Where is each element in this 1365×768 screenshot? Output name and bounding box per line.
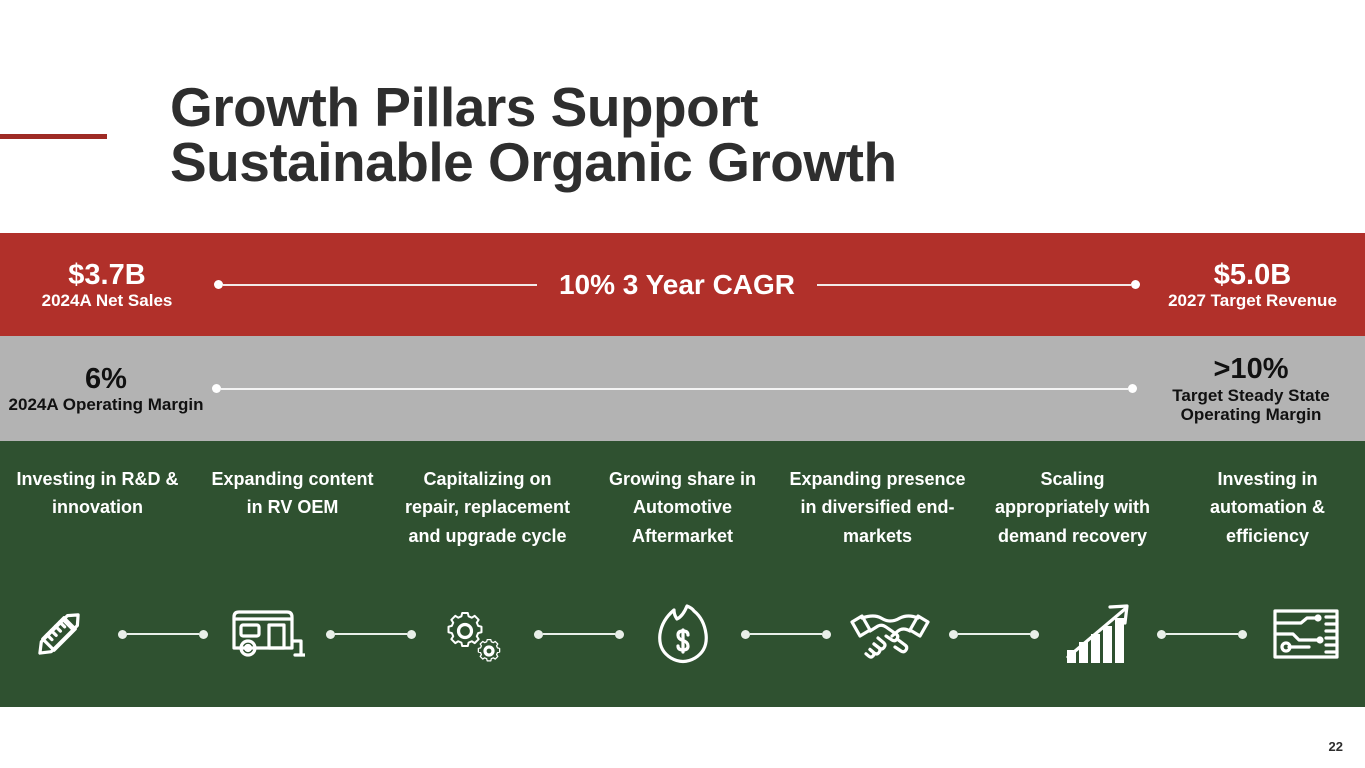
metric-value: $5.0B — [1140, 259, 1365, 291]
connector-line-right — [817, 284, 1131, 286]
pillar-icon-cell-3 — [416, 589, 534, 679]
metric-label: 2024A Net Sales — [0, 291, 214, 310]
metric-label: Target Steady State Operating Margin — [1137, 386, 1365, 424]
connector-line — [1166, 633, 1238, 635]
pillar-connector-5 — [949, 629, 1039, 639]
revenue-connector: 10% 3 Year CAGR — [214, 233, 1140, 336]
metric-label: 2027 Target Revenue — [1140, 291, 1365, 310]
flame-dollar-icon — [654, 602, 712, 666]
metric-label: 2024A Operating Margin — [0, 395, 212, 414]
growth-pillars-section: Investing in R&D & innovation Expanding … — [0, 441, 1365, 707]
metric-value: >10% — [1137, 353, 1365, 385]
connector-dot — [326, 630, 335, 639]
connector-end-dot — [1131, 280, 1140, 289]
metric-2024a-net-sales: $3.7B 2024A Net Sales — [0, 259, 214, 311]
metric-2024a-operating-margin: 6% 2024A Operating Margin — [0, 363, 212, 415]
pillar-connector-2 — [326, 629, 416, 639]
connector-dot — [534, 630, 543, 639]
connector-start-dot — [214, 280, 223, 289]
connector-dot — [1030, 630, 1039, 639]
pillar-icon-cell-7 — [1247, 589, 1365, 679]
pillar-label-automation-efficiency: Investing in automation & efficiency — [1170, 465, 1365, 550]
metric-2027-target-revenue: $5.0B 2027 Target Revenue — [1140, 259, 1365, 311]
pillar-label-repair-replacement: Capitalizing on repair, replacement and … — [390, 465, 585, 550]
connector-line — [958, 633, 1030, 635]
pillar-icon-cell-2 — [208, 589, 326, 679]
metric-value: 6% — [0, 363, 212, 395]
pillar-connector-4 — [741, 629, 831, 639]
connector-dot — [949, 630, 958, 639]
connector-dot — [199, 630, 208, 639]
pillar-label-rd-innovation: Investing in R&D & innovation — [0, 465, 195, 550]
gears-icon — [441, 602, 509, 666]
connector-line-left — [223, 284, 537, 286]
connector-start-dot — [212, 384, 221, 393]
title-accent-bar — [0, 134, 107, 139]
metric-target-steady-state-operating-margin: >10% Target Steady State Operating Margi… — [1137, 353, 1365, 424]
growth-chart-icon — [1065, 603, 1131, 665]
pillar-label-rv-oem: Expanding content in RV OEM — [195, 465, 390, 550]
connector-line — [750, 633, 822, 635]
pillar-icon-row — [0, 589, 1365, 679]
pencil-ruler-icon — [27, 602, 91, 666]
connector-dot — [1238, 630, 1247, 639]
circuit-board-icon — [1271, 607, 1341, 661]
pillar-label-automotive-aftermarket: Growing share in Automotive Aftermarket — [585, 465, 780, 550]
connector-line — [221, 388, 1128, 390]
cagr-callout: 10% 3 Year CAGR — [537, 269, 817, 301]
connector-dot — [741, 630, 750, 639]
pillar-connector-6 — [1157, 629, 1247, 639]
handshake-icon — [848, 606, 932, 662]
connector-line — [127, 633, 199, 635]
pillar-icon-cell-4 — [624, 589, 742, 679]
margin-band: 6% 2024A Operating Margin >10% Target St… — [0, 336, 1365, 441]
connector-dot — [118, 630, 127, 639]
metric-value: $3.7B — [0, 259, 214, 291]
pillar-icon-cell-1 — [0, 589, 118, 679]
pillar-icon-cell-5 — [831, 589, 949, 679]
connector-dot — [822, 630, 831, 639]
rv-trailer-icon — [229, 605, 305, 663]
pillar-label-demand-recovery: Scaling appropriately with demand recove… — [975, 465, 1170, 550]
connector-dot — [407, 630, 416, 639]
connector-dot — [615, 630, 624, 639]
connector-line — [335, 633, 407, 635]
page-title: Growth Pillars Support Sustainable Organ… — [170, 80, 1170, 190]
revenue-band: $3.7B 2024A Net Sales 10% 3 Year CAGR $5… — [0, 233, 1365, 336]
page-number: 22 — [1329, 739, 1343, 754]
pillar-icon-cell-6 — [1039, 589, 1157, 679]
connector-end-dot — [1128, 384, 1137, 393]
pillar-label-row: Investing in R&D & innovation Expanding … — [0, 465, 1365, 550]
pillar-connector-3 — [534, 629, 624, 639]
margin-connector — [212, 336, 1137, 441]
connector-line — [543, 633, 615, 635]
connector-dot — [1157, 630, 1166, 639]
pillar-label-diversified-end-markets: Expanding presence in diversified end-ma… — [780, 465, 975, 550]
pillar-connector-1 — [118, 629, 208, 639]
